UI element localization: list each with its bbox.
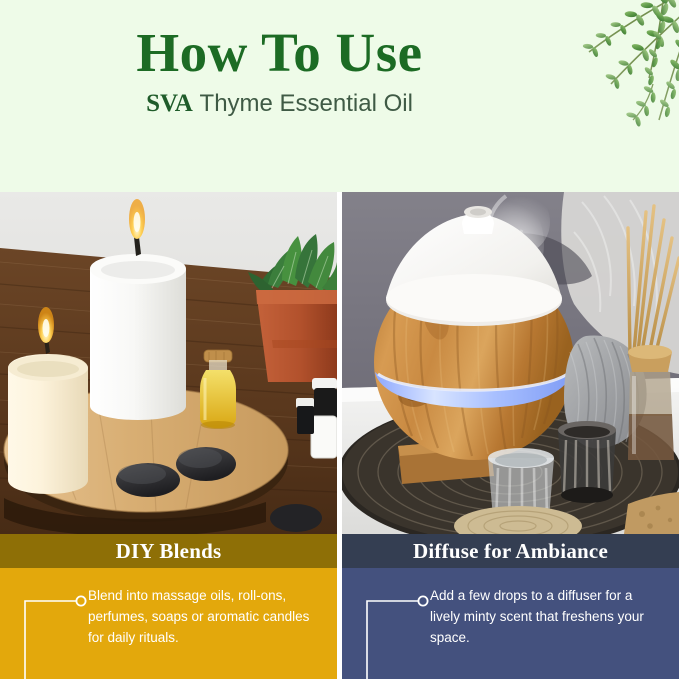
diffuser-photo bbox=[342, 192, 679, 534]
how-to-use-infographic: How To Use SVA Thyme Essential Oil bbox=[0, 0, 679, 679]
header-banner: How To Use SVA Thyme Essential Oil bbox=[0, 0, 679, 192]
page-title: How To Use bbox=[0, 24, 559, 82]
caption-divider bbox=[337, 534, 342, 679]
panel-title-bar-diy: DIY Blends bbox=[0, 534, 337, 568]
panel-title-diy: DIY Blends bbox=[116, 539, 222, 564]
panel-diffuse-for-ambiance: Diffuse for Ambiance Add a few drops to … bbox=[342, 534, 679, 679]
panel-text-diy: Blend into massage oils, roll-ons, perfu… bbox=[88, 585, 323, 648]
page-subtitle: SVA Thyme Essential Oil bbox=[0, 90, 559, 118]
panel-title-bar-diffuse: Diffuse for Ambiance bbox=[342, 534, 679, 568]
photo-divider bbox=[337, 192, 342, 534]
panel-body-diy: Blend into massage oils, roll-ons, perfu… bbox=[0, 568, 337, 679]
connector-line-diy bbox=[22, 568, 88, 679]
product-name: Thyme Essential Oil bbox=[200, 90, 413, 117]
candles-photo bbox=[0, 192, 337, 534]
panel-diy-blends: DIY Blends Blend into massage oils, roll… bbox=[0, 534, 337, 679]
brand-name: SVA bbox=[146, 90, 193, 117]
panel-text-diffuse: Add a few drops to a diffuser for a live… bbox=[430, 585, 665, 648]
panel-body-diffuse: Add a few drops to a diffuser for a live… bbox=[342, 568, 679, 679]
panel-title-diffuse: Diffuse for Ambiance bbox=[413, 539, 608, 564]
header-text-block: How To Use SVA Thyme Essential Oil bbox=[0, 24, 679, 118]
connector-line-diffuse bbox=[364, 568, 430, 679]
